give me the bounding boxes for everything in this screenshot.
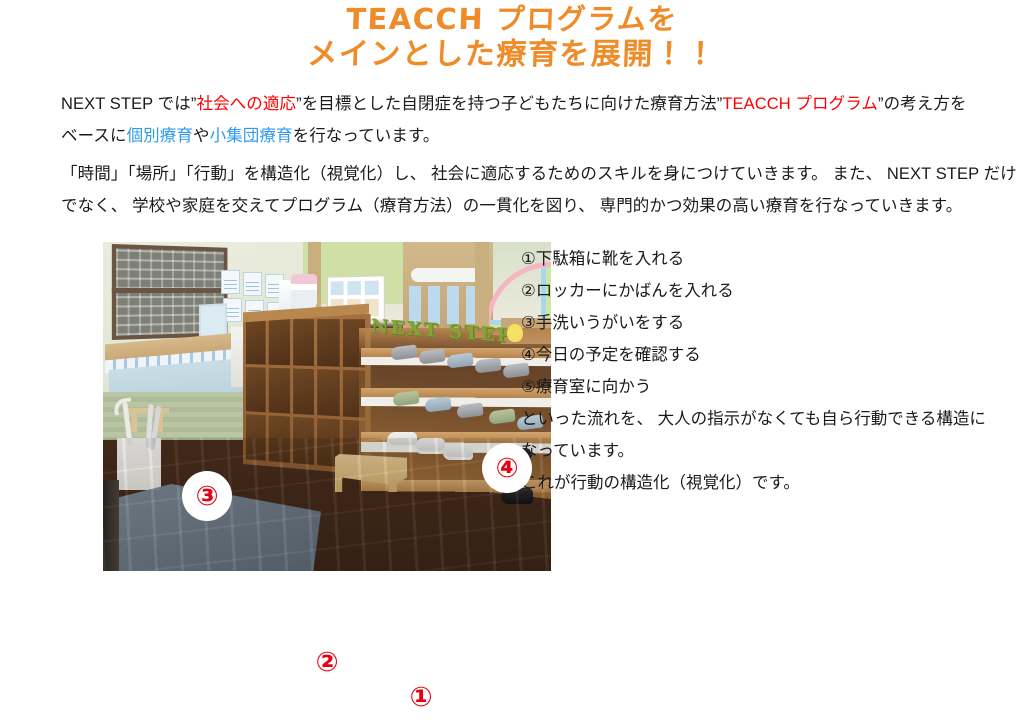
intro-paragraph-2-line-1: 「時間」「場所」「行動」を構造化（視覚化）し、 社会に適応するためのスキルを身に…: [61, 158, 969, 190]
shoe-white: [415, 438, 445, 454]
page-title-line-1: TEACCH プログラムを: [0, 2, 1024, 37]
intro-paragraph-2-line-2: でなく、 学校や家庭を交えてプログラム（療育方法）の一貫化を図り、 専門的かつ効…: [61, 190, 969, 222]
window-mullion: [112, 288, 228, 293]
entrance-photo-image: NEXT STEP: [103, 242, 551, 571]
door-frame-left: [103, 480, 119, 571]
intro-paragraph-1: NEXT STEP では”社会への適応”を目標とした自閉症を持つ子どもたちに向け…: [61, 88, 969, 152]
cubby-cell: [246, 367, 266, 413]
steps-closing-line-3: これが行動の構造化（視覚化）です。: [521, 467, 991, 499]
steps-closing-line-1: といった流れを、 大人の指示がなくても自ら行動できる構造に: [521, 403, 991, 435]
text-run: を行なっています。: [293, 127, 440, 145]
intro-paragraph-1-line-1: NEXT STEP では”社会への適応”を目標とした自閉症を持つ子どもたちに向け…: [61, 88, 969, 120]
text-run: を目標とした自閉症を持つ子どもたちに向けた療育方法: [302, 95, 717, 113]
intro-text: NEXT STEP では”社会への適応”を目標とした自閉症を持つ子どもたちに向け…: [61, 88, 969, 228]
page-title-line-2: メインとした療育を展開！！: [0, 37, 1024, 74]
flower-vase: [291, 274, 317, 310]
today-schedule-label: [411, 268, 483, 282]
photo-marker-2: ②: [305, 640, 349, 684]
intro-paragraph-2: 「時間」「場所」「行動」を構造化（視覚化）し、 社会に適応するためのスキルを身に…: [61, 158, 969, 222]
cubby-cell: [317, 319, 339, 366]
photo-marker-4: ④: [485, 446, 529, 490]
text-run: NEXT STEP では: [61, 95, 191, 113]
locker-cubby-cells: [243, 316, 368, 473]
highlight-shakai-e-no-tekiou: 社会への適応: [196, 95, 296, 113]
steps-closing-line-2: なっています。: [521, 435, 991, 467]
cubby-cell: [293, 319, 314, 366]
step-item-4: ④今日の予定を確認する: [521, 339, 991, 371]
cubby-cell: [269, 319, 290, 365]
cubby-cell: [293, 417, 314, 465]
photo-marker-3: ③: [185, 474, 229, 518]
cubby-cell: [269, 416, 290, 463]
cubby-cell: [317, 369, 339, 417]
step-item-1: ①下駄箱に靴を入れる: [521, 243, 991, 275]
shoe-white: [387, 432, 417, 448]
highlight-teacch-program: TEACCH プログラム: [722, 95, 878, 113]
intro-paragraph-1-line-2: ベースに個別療育や小集団療育を行なっています。: [61, 120, 969, 152]
soap-bottle: [279, 280, 291, 312]
chart-card: [243, 272, 262, 296]
daily-flow-list: ①下駄箱に靴を入れる ②ロッカーにかばんを入れる ③手洗いうがいをする ④今日の…: [521, 243, 991, 499]
step-item-5: ⑤療育室に向かう: [521, 371, 991, 403]
page-title: TEACCH プログラムを メインとした療育を展開！！: [0, 2, 1024, 74]
shoe-white: [443, 444, 473, 460]
highlight-kobetsu-ryouiku: 個別療育: [127, 127, 193, 145]
text-run: ベースに: [61, 127, 127, 145]
step-item-3: ③手洗いうがいをする: [521, 307, 991, 339]
text-run: の考え方を: [884, 95, 967, 113]
cubby-cell: [246, 414, 266, 460]
step-item-2: ②ロッカーにかばんを入れる: [521, 275, 991, 307]
text-run: や: [193, 127, 210, 145]
entrance-photo: NEXT STEP ① ② ③ ④: [103, 242, 551, 571]
cubby-cell: [293, 368, 314, 415]
cubby-cell: [269, 367, 290, 413]
cubby-cell: [246, 319, 266, 364]
photo-marker-1: ①: [399, 675, 443, 719]
highlight-shoushuudan-ryouiku: 小集団療育: [210, 127, 293, 145]
chart-card: [221, 270, 240, 294]
